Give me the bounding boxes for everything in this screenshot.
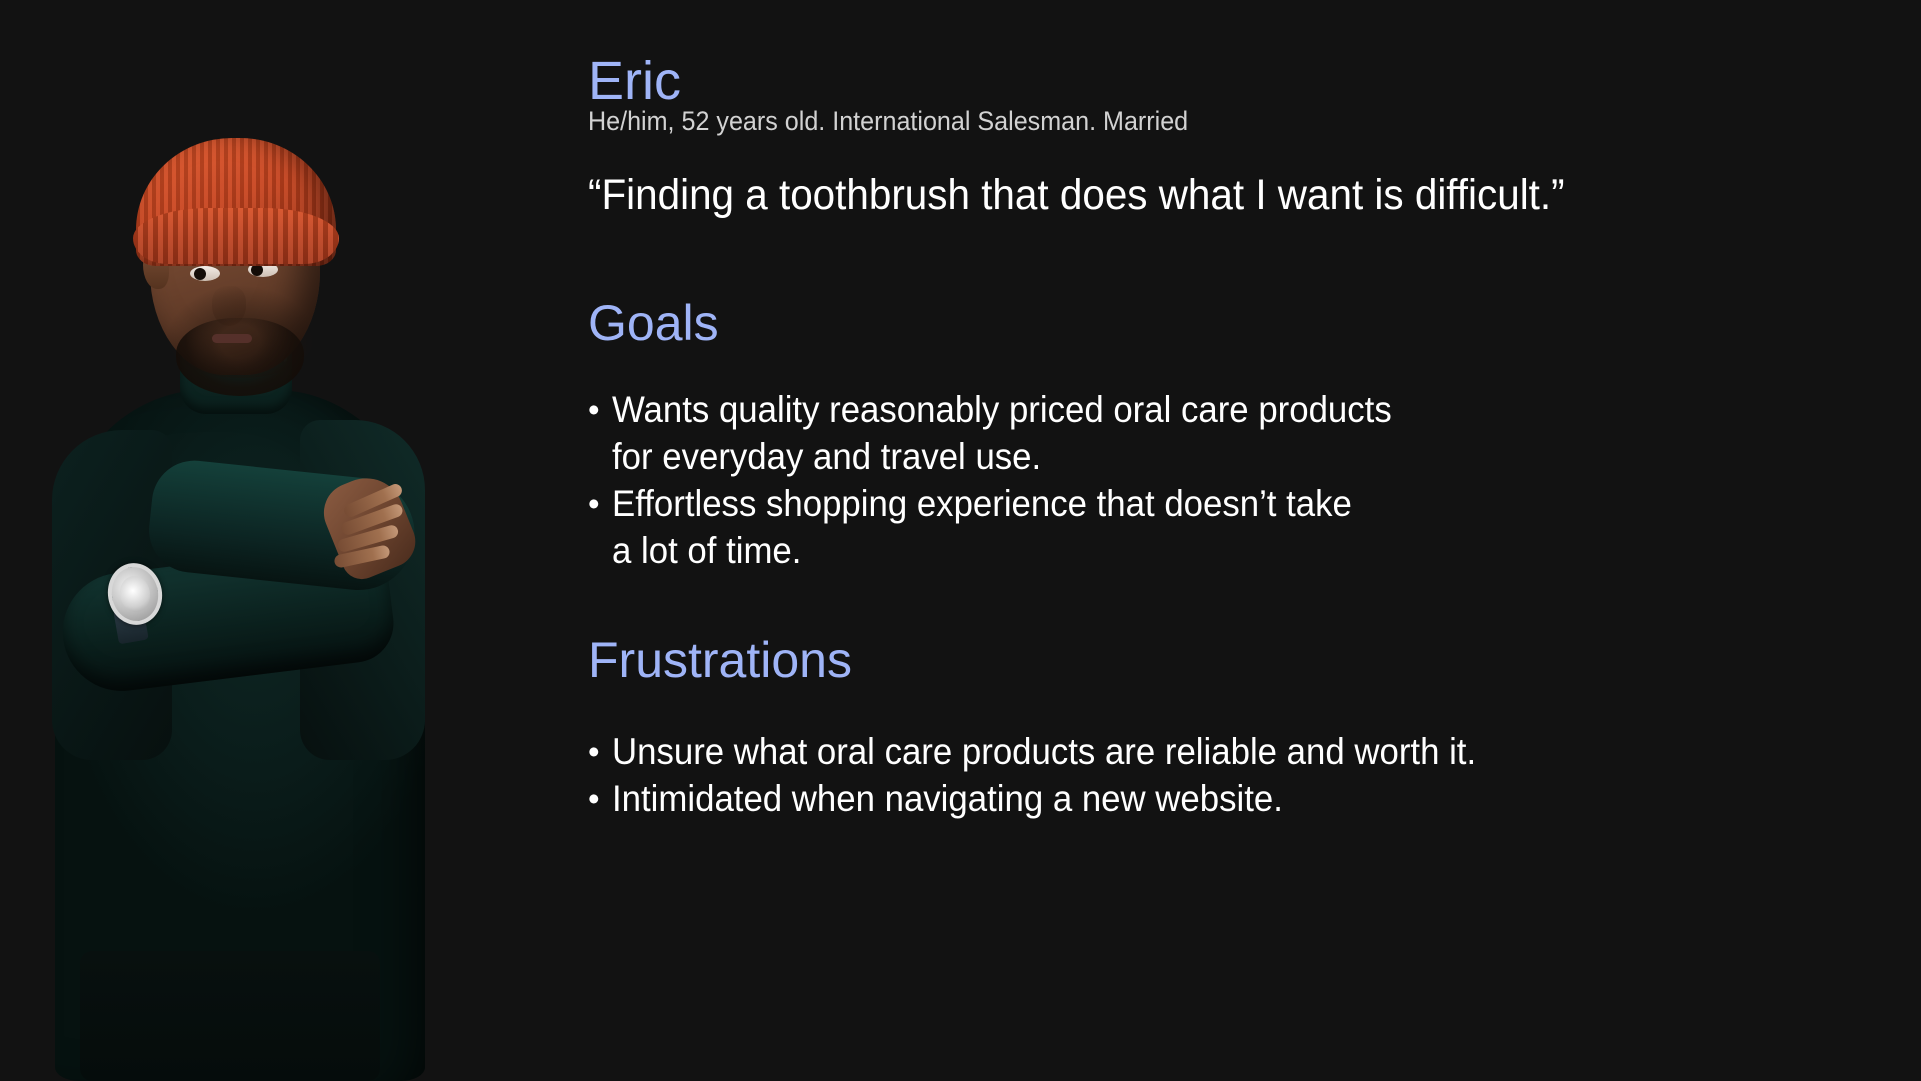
frustrations-list: • Unsure what oral care products are rel… [588, 728, 1868, 822]
persona-slide: Eric He/him, 52 years old. International… [0, 0, 1921, 1081]
watch-face [117, 574, 153, 615]
goal-text: Wants quality reasonably priced oral car… [612, 386, 1793, 480]
persona-meta: He/him, 52 years old. International Sale… [588, 104, 1188, 138]
list-item: • Intimidated when navigating a new webs… [588, 775, 1868, 822]
frustration-text: Intimidated when navigating a new websit… [612, 775, 1793, 822]
eye-left [190, 266, 220, 281]
persona-name: Eric [588, 52, 681, 110]
mouth [212, 334, 252, 343]
pupil [194, 268, 206, 280]
beard [176, 318, 304, 396]
frustration-text: Unsure what oral care products are relia… [612, 728, 1793, 775]
bullet-icon: • [588, 728, 612, 775]
bullet-icon: • [588, 386, 612, 433]
persona-quote: “Finding a toothbrush that does what I w… [588, 168, 1565, 222]
bullet-icon: • [588, 480, 612, 527]
list-item: • Wants quality reasonably priced oral c… [588, 386, 1868, 480]
sweater-hem [80, 951, 380, 1081]
bullet-icon: • [588, 775, 612, 822]
persona-portrait-image [0, 0, 560, 1081]
list-item: • Unsure what oral care products are rel… [588, 728, 1868, 775]
goals-heading: Goals [588, 293, 719, 353]
persona-text-column: Eric He/him, 52 years old. International… [588, 0, 1878, 1081]
beanie-brim [133, 208, 339, 264]
list-item: • Effortless shopping experience that do… [588, 480, 1868, 574]
persona-photo-column [0, 0, 560, 1081]
goal-text: Effortless shopping experience that does… [612, 480, 1793, 574]
frustrations-heading: Frustrations [588, 630, 852, 690]
goals-list: • Wants quality reasonably priced oral c… [588, 386, 1868, 574]
